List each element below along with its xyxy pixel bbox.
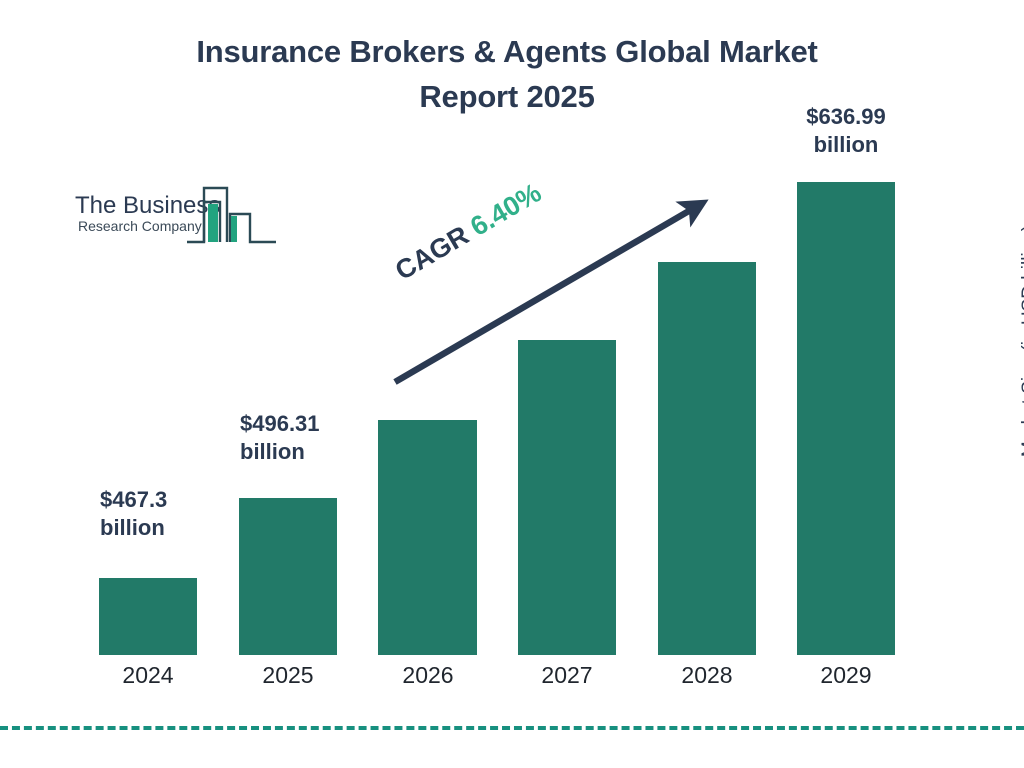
- footer-divider: [0, 726, 1024, 730]
- xtick-2027: 2027: [507, 662, 627, 689]
- xtick-2028: 2028: [647, 662, 767, 689]
- xtick-2026: 2026: [368, 662, 488, 689]
- cagr-value: 6.40%: [465, 177, 546, 242]
- value-label-2025-amount: $496.31: [240, 410, 370, 438]
- value-label-2029: $636.99 billion: [775, 103, 917, 159]
- value-label-2025: $496.31 billion: [240, 410, 370, 466]
- value-label-2024-unit: billion: [100, 514, 230, 542]
- bar-chart: 2024 2025 2026 2027 2028 2029 $467.3 bil…: [0, 0, 1024, 768]
- bar-2029: [797, 182, 895, 655]
- bar-2028: [658, 262, 756, 655]
- cagr-keyword: CAGR: [390, 220, 474, 286]
- value-label-2024-amount: $467.3: [100, 486, 230, 514]
- bar-2026: [378, 420, 477, 655]
- value-label-2024: $467.3 billion: [100, 486, 230, 542]
- bar-2024: [99, 578, 197, 655]
- value-label-2029-amount: $636.99: [775, 103, 917, 131]
- bar-2025: [239, 498, 337, 655]
- chart-page: Insurance Brokers & Agents Global Market…: [0, 0, 1024, 768]
- xtick-2025: 2025: [228, 662, 348, 689]
- y-axis-title: Market Size (in USD billion): [1019, 171, 1024, 511]
- cagr-annotation: CAGR 6.40%: [390, 144, 604, 287]
- value-label-2029-unit: billion: [775, 131, 917, 159]
- value-label-2025-unit: billion: [240, 438, 370, 466]
- xtick-2024: 2024: [88, 662, 208, 689]
- bar-2027: [518, 340, 616, 655]
- xtick-2029: 2029: [786, 662, 906, 689]
